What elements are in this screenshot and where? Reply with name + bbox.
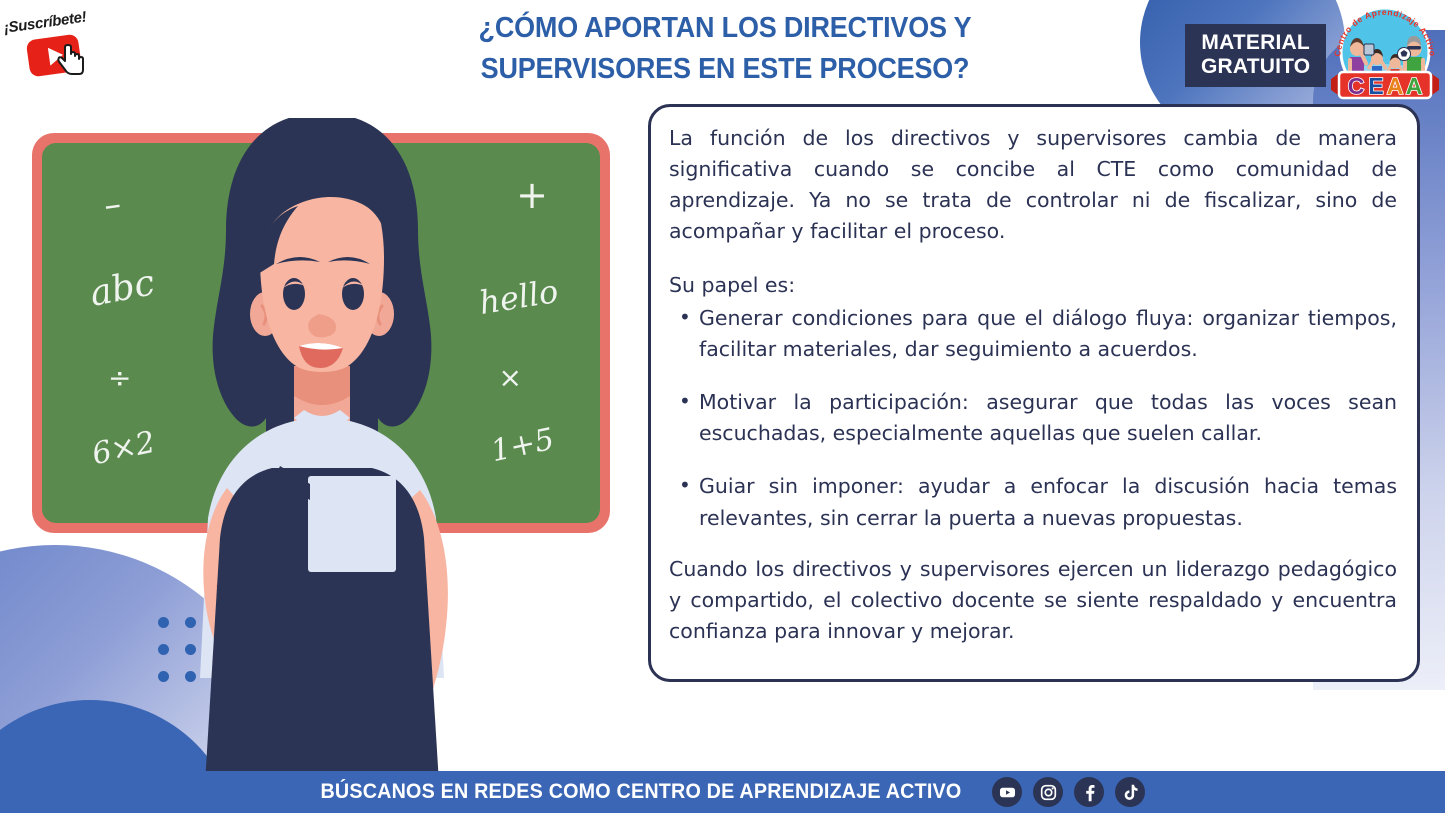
list-item: Guiar sin imponer: ayudar a enfocar la d… (669, 471, 1397, 533)
youtube-icon[interactable] (992, 777, 1022, 807)
instagram-icon[interactable] (1033, 777, 1063, 807)
material-badge-line-2: GRATUITO (1201, 55, 1310, 79)
facebook-icon[interactable] (1074, 777, 1104, 807)
page-title-line-2: SUPERVISORES EN ESTE PROCESO? (330, 49, 1121, 90)
teacher-figure (22, 118, 622, 778)
closing-paragraph: Cuando los directivos y supervisores eje… (669, 554, 1397, 647)
material-badge-line-1: MATERIAL (1201, 31, 1310, 55)
page-title-line-1: ¿CÓMO APORTAN LOS DIRECTIVOS Y (330, 8, 1121, 49)
footer-text: BÚSCANOS EN REDES COMO CENTRO DE APRENDI… (320, 780, 961, 804)
content-panel: La función de los directivos y superviso… (648, 104, 1420, 682)
subscribe-label: ¡Suscríbete! (3, 9, 88, 37)
list-item: Motivar la participación: asegurar que t… (669, 387, 1397, 449)
hand-cursor-icon (57, 44, 87, 78)
material-gratuito-badge: MATERIAL GRATUITO (1185, 24, 1326, 87)
logo-letter-a2: A (1406, 73, 1423, 99)
teacher-illustration: – + abc hello ÷ × 6×2 1+5 (22, 118, 622, 778)
role-label: Su papel es: (669, 270, 1397, 301)
role-bullet-list: Generar condiciones para que el diálogo … (669, 303, 1397, 534)
ceaa-logo: Centro de Aprendizaje Activo (1327, 2, 1443, 102)
page-title: ¿CÓMO APORTAN LOS DIRECTIVOS Y SUPERVISO… (330, 8, 1121, 90)
footer-bar: BÚSCANOS EN REDES COMO CENTRO DE APRENDI… (0, 771, 1445, 813)
subscribe-badge[interactable]: ¡Suscríbete! (2, 4, 114, 80)
tiktok-icon[interactable] (1115, 777, 1145, 807)
logo-letter-a1: A (1387, 73, 1404, 99)
logo-letter-e: E (1368, 73, 1383, 99)
list-item: Generar condiciones para que el diálogo … (669, 303, 1397, 365)
slide-canvas: ¡Suscríbete! ¿CÓMO APORTAN LOS DIRECTIVO… (0, 0, 1445, 813)
logo-letter-c: C (1348, 73, 1365, 99)
intro-paragraph: La función de los directivos y superviso… (669, 123, 1397, 248)
